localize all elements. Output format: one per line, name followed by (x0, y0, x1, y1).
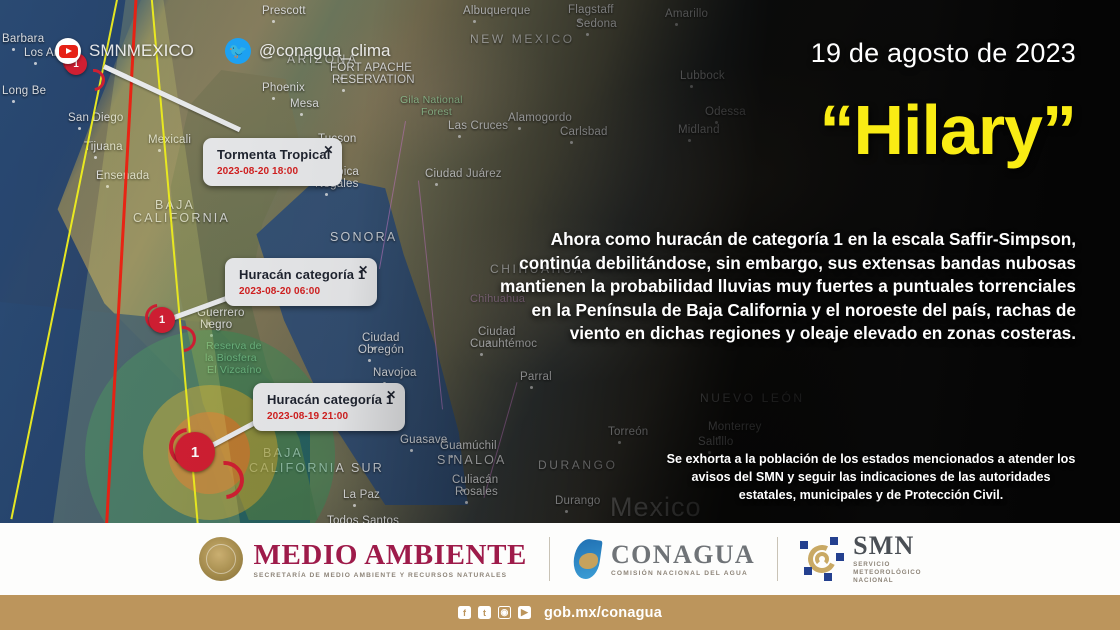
youtube-handle-label: SMNMEXICO (89, 41, 194, 61)
website-url[interactable]: gob.mx/conagua (544, 605, 662, 621)
youtube-icon[interactable]: ▶ (518, 606, 531, 619)
logo-divider (549, 537, 550, 581)
twitter-handle-label: @conagua_clima (259, 41, 391, 61)
twitter-icon[interactable]: t (478, 606, 491, 619)
conagua-subtitle: COMISIÓN NACIONAL DEL AGUA (611, 570, 755, 577)
youtube-icon (55, 38, 81, 64)
footer-logo-bar: MEDIO AMBIENTE SECRETARÍA DE MEDIO AMBIE… (0, 523, 1120, 595)
logo-medio-ambiente: MEDIO AMBIENTE SECRETARÍA DE MEDIO AMBIE… (199, 537, 527, 581)
smn-subtitle: SERVICIO METEOROLÓGICO NACIONAL (853, 561, 921, 585)
conagua-title: CONAGUA (611, 541, 755, 568)
social-handles-overlay: SMNMEXICO 🐦 @conagua_clima (55, 38, 390, 64)
mexican-coat-of-arms-icon (199, 537, 243, 581)
storm-name-title: “Hilary” (819, 95, 1076, 165)
infographic-root: BarbaraLos AngLong BeSan DiegoTijuanaEns… (0, 0, 1120, 630)
instagram-icon[interactable]: ◉ (498, 606, 511, 619)
smn-title: SMN (853, 533, 921, 559)
conagua-water-drop-icon (572, 537, 602, 581)
text-panel: 19 de agosto de 2023 “Hilary” Ahora como… (480, 0, 1120, 523)
logo-conagua: CONAGUA COMISIÓN NACIONAL DEL AGUA (572, 537, 755, 581)
advisory-note: Se exhorta a la población de los estados… (666, 450, 1076, 504)
youtube-handle[interactable]: SMNMEXICO (55, 38, 194, 64)
main-description: Ahora como huracán de categoría 1 en la … (482, 228, 1076, 346)
report-date: 19 de agosto de 2023 (811, 38, 1076, 69)
logo-smn: SMN SERVICIO METEOROLÓGICO NACIONAL (800, 533, 921, 585)
twitter-icon: 🐦 (225, 38, 251, 64)
bottom-social-bar: f t ◉ ▶ gob.mx/conagua (0, 595, 1120, 630)
twitter-handle[interactable]: 🐦 @conagua_clima (225, 38, 391, 64)
smn-spiral-icon (800, 537, 844, 581)
medio-ambiente-subtitle: SECRETARÍA DE MEDIO AMBIENTE Y RECURSOS … (254, 572, 527, 579)
facebook-icon[interactable]: f (458, 606, 471, 619)
medio-ambiente-title: MEDIO AMBIENTE (254, 540, 527, 570)
logo-divider (777, 537, 778, 581)
